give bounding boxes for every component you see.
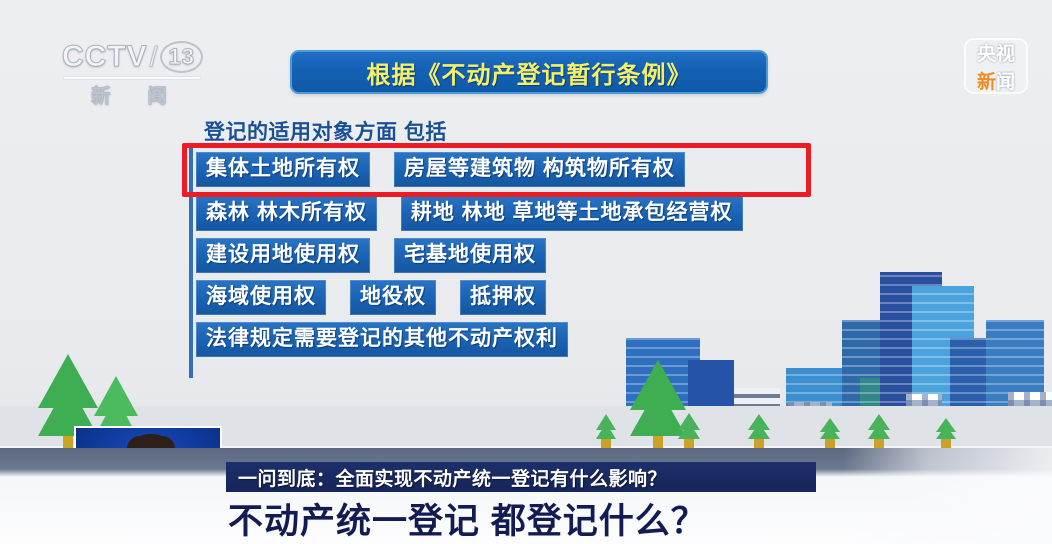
lower-third-kicker: 一问到底：全面实现不动产统一登记有什么影响？ xyxy=(226,462,816,492)
list-subheading: 登记的适用对象方面 包括 xyxy=(204,116,896,146)
scope-item-pill: 宅基地使用权 xyxy=(394,238,546,273)
broadcast-frame: CCTV / 13 新 闻 央视 新闻 根据《不动产登记暂行条例》 登记的适用对… xyxy=(0,0,1052,544)
scope-item-pill: 法律规定需要登记的其他不动产权利 xyxy=(196,322,568,357)
scope-item-pill: 集体土地所有权 xyxy=(196,152,370,187)
watermark-line-2: 新闻 xyxy=(977,67,1015,94)
scope-item-pill: 森林 林木所有权 xyxy=(196,196,377,231)
list-row: 森林 林木所有权耕地 林地 草地等土地承包经营权 xyxy=(196,196,896,231)
watermark-line-1: 央视 xyxy=(977,39,1015,66)
cctv-channel-number: 13 xyxy=(160,41,202,73)
tree xyxy=(868,414,890,440)
tree xyxy=(678,413,700,440)
watermark-highlight-char: 新 xyxy=(977,72,996,93)
kicker-text: 一问到底：全面实现不动产统一登记有什么影响？ xyxy=(238,464,667,491)
title-banner-text: 根据《不动产登记暂行条例》 xyxy=(367,55,692,90)
headline-text: 不动产统一登记 都登记什么？ xyxy=(228,493,707,544)
list-rows: 集体土地所有权房屋等建筑物 构筑物所有权森林 林木所有权耕地 林地 草地等土地承… xyxy=(196,152,896,357)
list-row: 法律规定需要登记的其他不动产权利 xyxy=(196,322,896,357)
cctv-news-watermark: 央视 新闻 xyxy=(964,38,1028,94)
tree-crown-bottom xyxy=(678,422,700,439)
scope-item-pill: 抵押权 xyxy=(460,280,546,315)
list-row: 建设用地使用权宅基地使用权 xyxy=(196,238,896,273)
tree xyxy=(936,418,956,440)
scope-item-pill: 房屋等建筑物 构筑物所有权 xyxy=(394,152,685,187)
cctv-channel-logo: CCTV / 13 新 闻 xyxy=(62,40,212,106)
cctv-logo-subtitle: 新 闻 xyxy=(62,81,212,108)
lower-third-headline: 不动产统一登记 都登记什么？ xyxy=(228,494,848,542)
watermark-plain-char: 闻 xyxy=(996,72,1015,93)
cctv-slash: / xyxy=(150,41,159,73)
scope-item-pill: 海域使用权 xyxy=(196,280,326,315)
scope-item-pill: 地役权 xyxy=(350,280,436,315)
left-accent-rail xyxy=(189,148,193,378)
registration-scope-list: 登记的适用对象方面 包括 集体土地所有权房屋等建筑物 构筑物所有权森林 林木所有… xyxy=(196,110,896,364)
tree-crown-bottom xyxy=(748,423,770,439)
scope-item-pill: 建设用地使用权 xyxy=(196,238,370,273)
cctv-logo-row: CCTV / 13 xyxy=(62,40,212,74)
tree-trunk xyxy=(63,436,73,448)
lower-third-right-fade xyxy=(842,448,1052,544)
cctv-brand-text: CCTV xyxy=(62,40,148,74)
scope-item-pill: 耕地 林地 草地等土地承包经营权 xyxy=(401,196,743,231)
tree-crown-bottom xyxy=(596,423,616,439)
tree xyxy=(596,414,616,440)
tree-trunk xyxy=(653,436,663,448)
tree xyxy=(820,418,840,440)
list-row: 海域使用权地役权抵押权 xyxy=(196,280,896,315)
cctv-logo-underline xyxy=(64,77,200,79)
title-banner: 根据《不动产登记暂行条例》 xyxy=(290,50,768,94)
list-row: 集体土地所有权房屋等建筑物 构筑物所有权 xyxy=(196,152,896,187)
tree xyxy=(748,414,770,440)
tree-crown-bottom xyxy=(868,423,890,439)
tree-crown-bottom xyxy=(820,425,840,439)
tree-crown-bottom xyxy=(936,425,956,439)
